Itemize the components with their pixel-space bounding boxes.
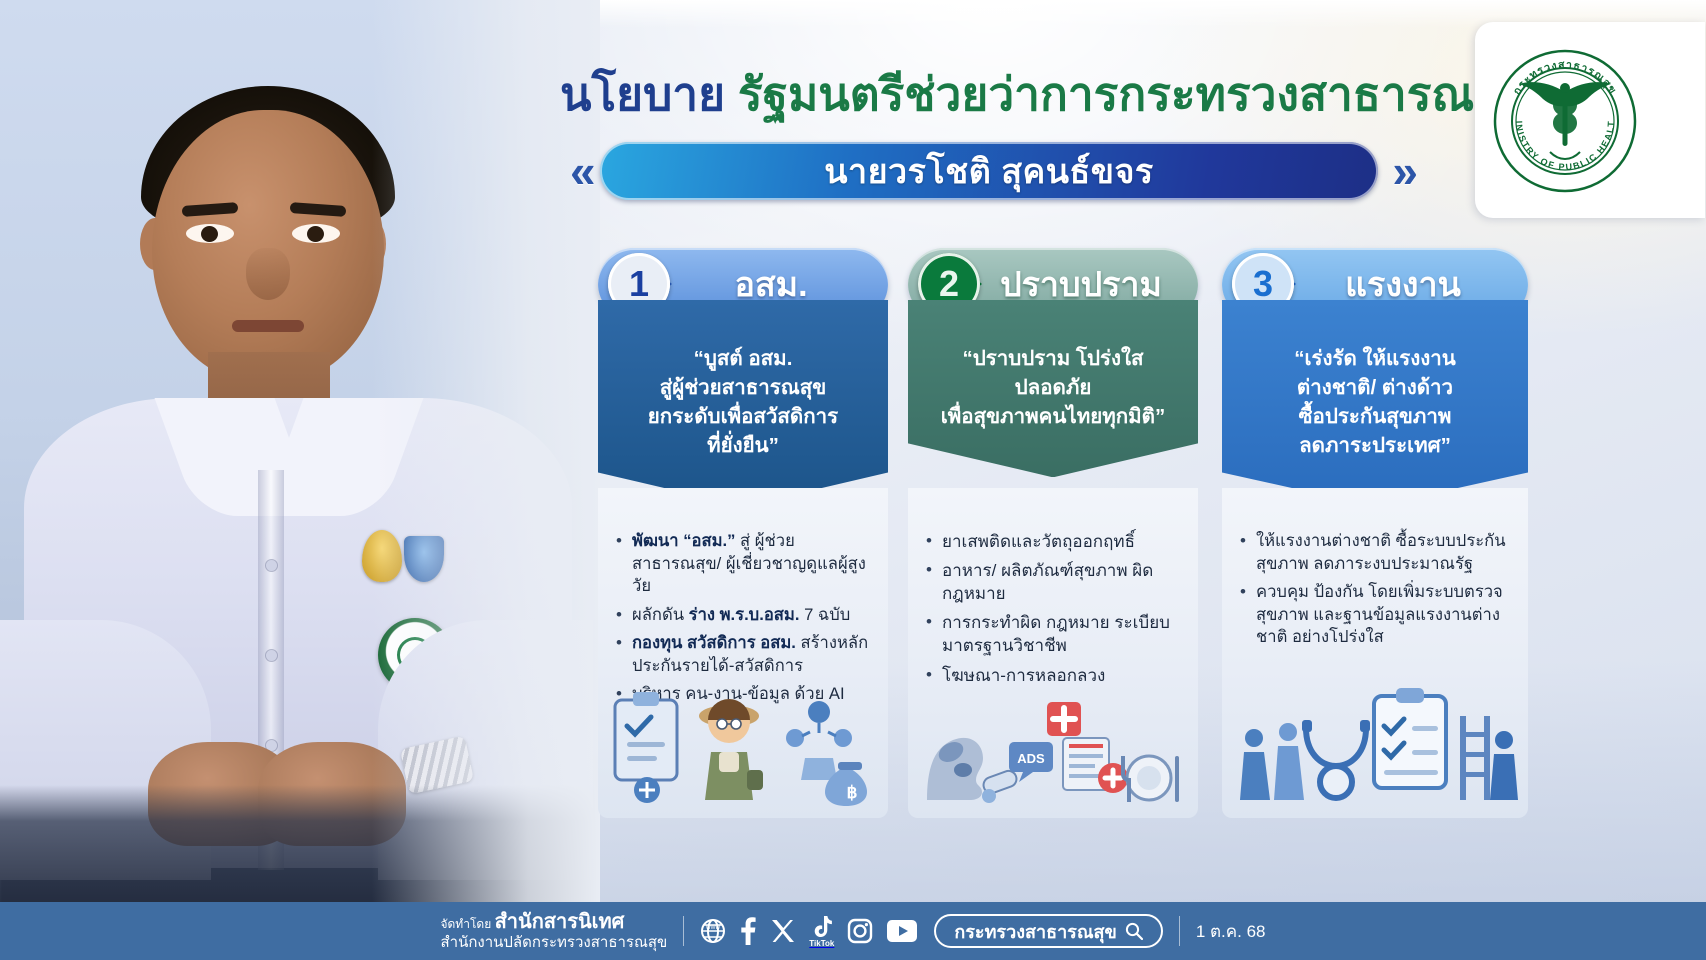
minister-name: นายวรโชติ สุคนธ์ขจร xyxy=(824,144,1153,198)
footer-credit-line-1: จัดทำโดย สำนักสารนิเทศ xyxy=(440,911,667,934)
bullet-bold: ร่าง พ.ร.บ.อสม. xyxy=(689,605,800,624)
footer-credit-sub: สำนักงานปลัดกระทรวงสาธารณสุข xyxy=(440,934,667,951)
footer-credit-prefix: จัดทำโดย xyxy=(440,917,491,931)
list-item: อาหาร/ ผลิตภัณฑ์สุขภาพ ผิดกฎหมาย xyxy=(924,559,1184,605)
card-3-body: ให้แรงงานต่างชาติ ซื้อระบบประกันสุขภาพ ล… xyxy=(1222,488,1528,818)
card-1-quote-line-2: สู่ผู้ช่วยสาธารณสุข xyxy=(660,376,827,399)
tiktok-label: TikTok xyxy=(809,940,834,948)
card-3-bullet-list: ให้แรงงานต่างชาติ ซื้อระบบประกันสุขภาพ ล… xyxy=(1238,530,1514,649)
globe-icon[interactable]: WWW xyxy=(700,918,726,944)
bullet-text: การกระทำผิด กฎหมาย ระเบียบ มาตรฐานวิชาชี… xyxy=(942,613,1170,655)
medical-cross-icon xyxy=(1047,702,1081,736)
volunteer-character-icon xyxy=(699,699,763,800)
pill-capsule-icon xyxy=(981,769,1018,803)
card-1-bullet-list: พัฒนา “อสม.” สู่ ผู้ช่วยสาธารณสุข/ ผู้เช… xyxy=(614,530,874,706)
portrait-fade-overlay xyxy=(0,0,600,905)
search-icon xyxy=(1125,922,1143,940)
search-pill-label: กระทรวงสาธารณสุข xyxy=(954,917,1117,946)
card-2-quote-line-3: เพื่อสุขภาพคนไทยทุกมิติ” xyxy=(941,405,1165,428)
card-1-illustration: ฿ xyxy=(598,682,888,812)
list-item: พัฒนา “อสม.” สู่ ผู้ช่วยสาธารณสุข/ ผู้เช… xyxy=(614,530,874,598)
card-2-bullet-list: ยาเสพติดและวัตถุออกฤทธิ์ อาหาร/ ผลิตภัณฑ… xyxy=(924,530,1184,687)
worker-silhouette-icon xyxy=(1240,723,1304,800)
card-2-illustration: ADS xyxy=(908,682,1198,812)
head-drug-icon xyxy=(927,738,983,800)
plate-cutlery-icon xyxy=(1123,756,1179,802)
policy-card-2[interactable]: 2 ปราบปราม “ปราบปราม โปร่งใส ปลอดภัย เพื… xyxy=(908,248,1198,818)
card-3-quote-line-2: ต่างชาติ/ ต่างด้าว xyxy=(1297,376,1453,399)
bullet-text: อาหาร/ ผลิตภัณฑ์สุขภาพ ผิดกฎหมาย xyxy=(942,561,1153,603)
svg-text:฿: ฿ xyxy=(847,783,858,802)
x-twitter-icon[interactable] xyxy=(770,918,796,944)
svg-text:WWW: WWW xyxy=(706,925,720,931)
ladder-worker-icon xyxy=(1460,716,1518,800)
youtube-icon[interactable] xyxy=(886,919,918,943)
card-1-quote-line-4: ที่ยั่งยืน” xyxy=(707,434,779,457)
card-1-quote: “บูสต์ อสม. สู่ผู้ช่วยสาธารณสุข ยกระดับเ… xyxy=(598,300,888,506)
bullet-bold: พัฒนา “อสม.” xyxy=(632,531,735,550)
instagram-icon[interactable] xyxy=(847,918,873,944)
minister-name-pill: นายวรโชติ สุคนธ์ขจร xyxy=(600,142,1379,200)
footer-divider xyxy=(683,916,684,946)
card-2-quote: “ปราบปราม โปร่งใส ปลอดภัย เพื่อสุขภาพคนไ… xyxy=(908,300,1198,477)
checklist-clipboard-icon xyxy=(1374,688,1446,788)
footer-credit-org: สำนักสารนิเทศ xyxy=(495,911,625,933)
minister-name-row: « นายวรโชติ สุคนธ์ขจร » xyxy=(570,140,1408,202)
card-1-body: พัฒนา “อสม.” สู่ ผู้ช่วยสาธารณสุข/ ผู้เช… xyxy=(598,488,888,818)
card-1-quote-line-3: ยกระดับเพื่อสวัสดิการ xyxy=(648,405,838,428)
card-3-quote-line-3: ซื้อประกันสุขภาพ xyxy=(1299,405,1452,428)
policy-card-1[interactable]: 1 อสม. “บูสต์ อสม. สู่ผู้ช่วยสาธารณสุข ย… xyxy=(598,248,888,818)
list-item: ยาเสพติดและวัตถุออกฤทธิ์ xyxy=(924,530,1184,553)
stethoscope-icon xyxy=(1302,720,1370,798)
footer-date: 1 ต.ค. 68 xyxy=(1196,918,1266,945)
search-pill[interactable]: กระทรวงสาธารณสุข xyxy=(934,914,1163,948)
footer-credit: จัดทำโดย สำนักสารนิเทศ สำนักงานปลัดกระทร… xyxy=(440,911,667,951)
list-item: ผลักดัน ร่าง พ.ร.บ.อสม. 7 ฉบับ xyxy=(614,604,874,627)
list-item: การกระทำผิด กฎหมาย ระเบียบ มาตรฐานวิชาชี… xyxy=(924,611,1184,657)
footer-bar: จัดทำโดย สำนักสารนิเทศ สำนักงานปลัดกระทร… xyxy=(0,902,1706,960)
bullet-text: 7 ฉบับ xyxy=(799,605,850,624)
bullet-text: ให้แรงงานต่างชาติ ซื้อระบบประกันสุขภาพ ล… xyxy=(1256,531,1506,573)
bullet-text: ผลักดัน xyxy=(632,605,689,624)
card-2-quote-line-1: “ปราบปราม โปร่งใส xyxy=(962,347,1143,370)
moph-seal-icon: กระทรวงสาธารณสุข MINISTRY OF PUBLIC HEAL… xyxy=(1492,48,1638,194)
list-item: ให้แรงงานต่างชาติ ซื้อระบบประกันสุขภาพ ล… xyxy=(1238,530,1514,575)
bullet-bold: กองทุน สวัสดิการ อสม. xyxy=(632,633,796,652)
card-2-body: ยาเสพติดและวัตถุออกฤทธิ์ อาหาร/ ผลิตภัณฑ… xyxy=(908,488,1198,818)
list-item: กองทุน สวัสดิการ อสม. สร้างหลักประกันราย… xyxy=(614,632,874,677)
social-links: WWW TikTok xyxy=(700,915,918,948)
title-policy-word: นโยบาย xyxy=(560,68,725,120)
chevron-right-icon: » xyxy=(1392,148,1408,194)
policy-card-3[interactable]: 3 แรงงาน “เร่งรัด ให้แรงงาน ต่างชาติ/ ต่… xyxy=(1222,248,1528,818)
tiktok-icon[interactable]: TikTok xyxy=(809,915,834,948)
bullet-text: ยาเสพติดและวัตถุออกฤทธิ์ xyxy=(942,532,1135,551)
card-2-quote-line-2: ปลอดภัย xyxy=(1015,376,1092,399)
card-3-quote-line-1: “เร่งรัด ให้แรงงาน xyxy=(1294,347,1456,370)
card-3-illustration xyxy=(1222,682,1528,812)
chevron-left-icon: « xyxy=(570,148,586,194)
card-3-quote: “เร่งรัด ให้แรงงาน ต่างชาติ/ ต่างด้าว ซื… xyxy=(1222,300,1528,506)
svg-text:ADS: ADS xyxy=(1017,751,1045,766)
footer-divider xyxy=(1179,916,1180,946)
card-1-quote-line-1: “บูสต์ อสม. xyxy=(694,347,793,370)
card-3-quote-line-4: ลดภาระประเทศ” xyxy=(1299,434,1451,457)
title-minister-word: รัฐมนตรีช่วยว่าการกระทรวงสาธารณสุข xyxy=(738,68,1534,120)
page-title: นโยบาย รัฐมนตรีช่วยว่าการกระทรวงสาธารณสุ… xyxy=(560,58,1410,131)
bullet-text: ควบคุม ป้องกัน โดยเพิ่มระบบตรวจสุขภาพ แล… xyxy=(1256,582,1503,646)
list-item: ควบคุม ป้องกัน โดยเพิ่มระบบตรวจสุขภาพ แล… xyxy=(1238,581,1514,649)
clipboard-icon xyxy=(615,692,677,803)
facebook-icon[interactable] xyxy=(739,917,757,945)
